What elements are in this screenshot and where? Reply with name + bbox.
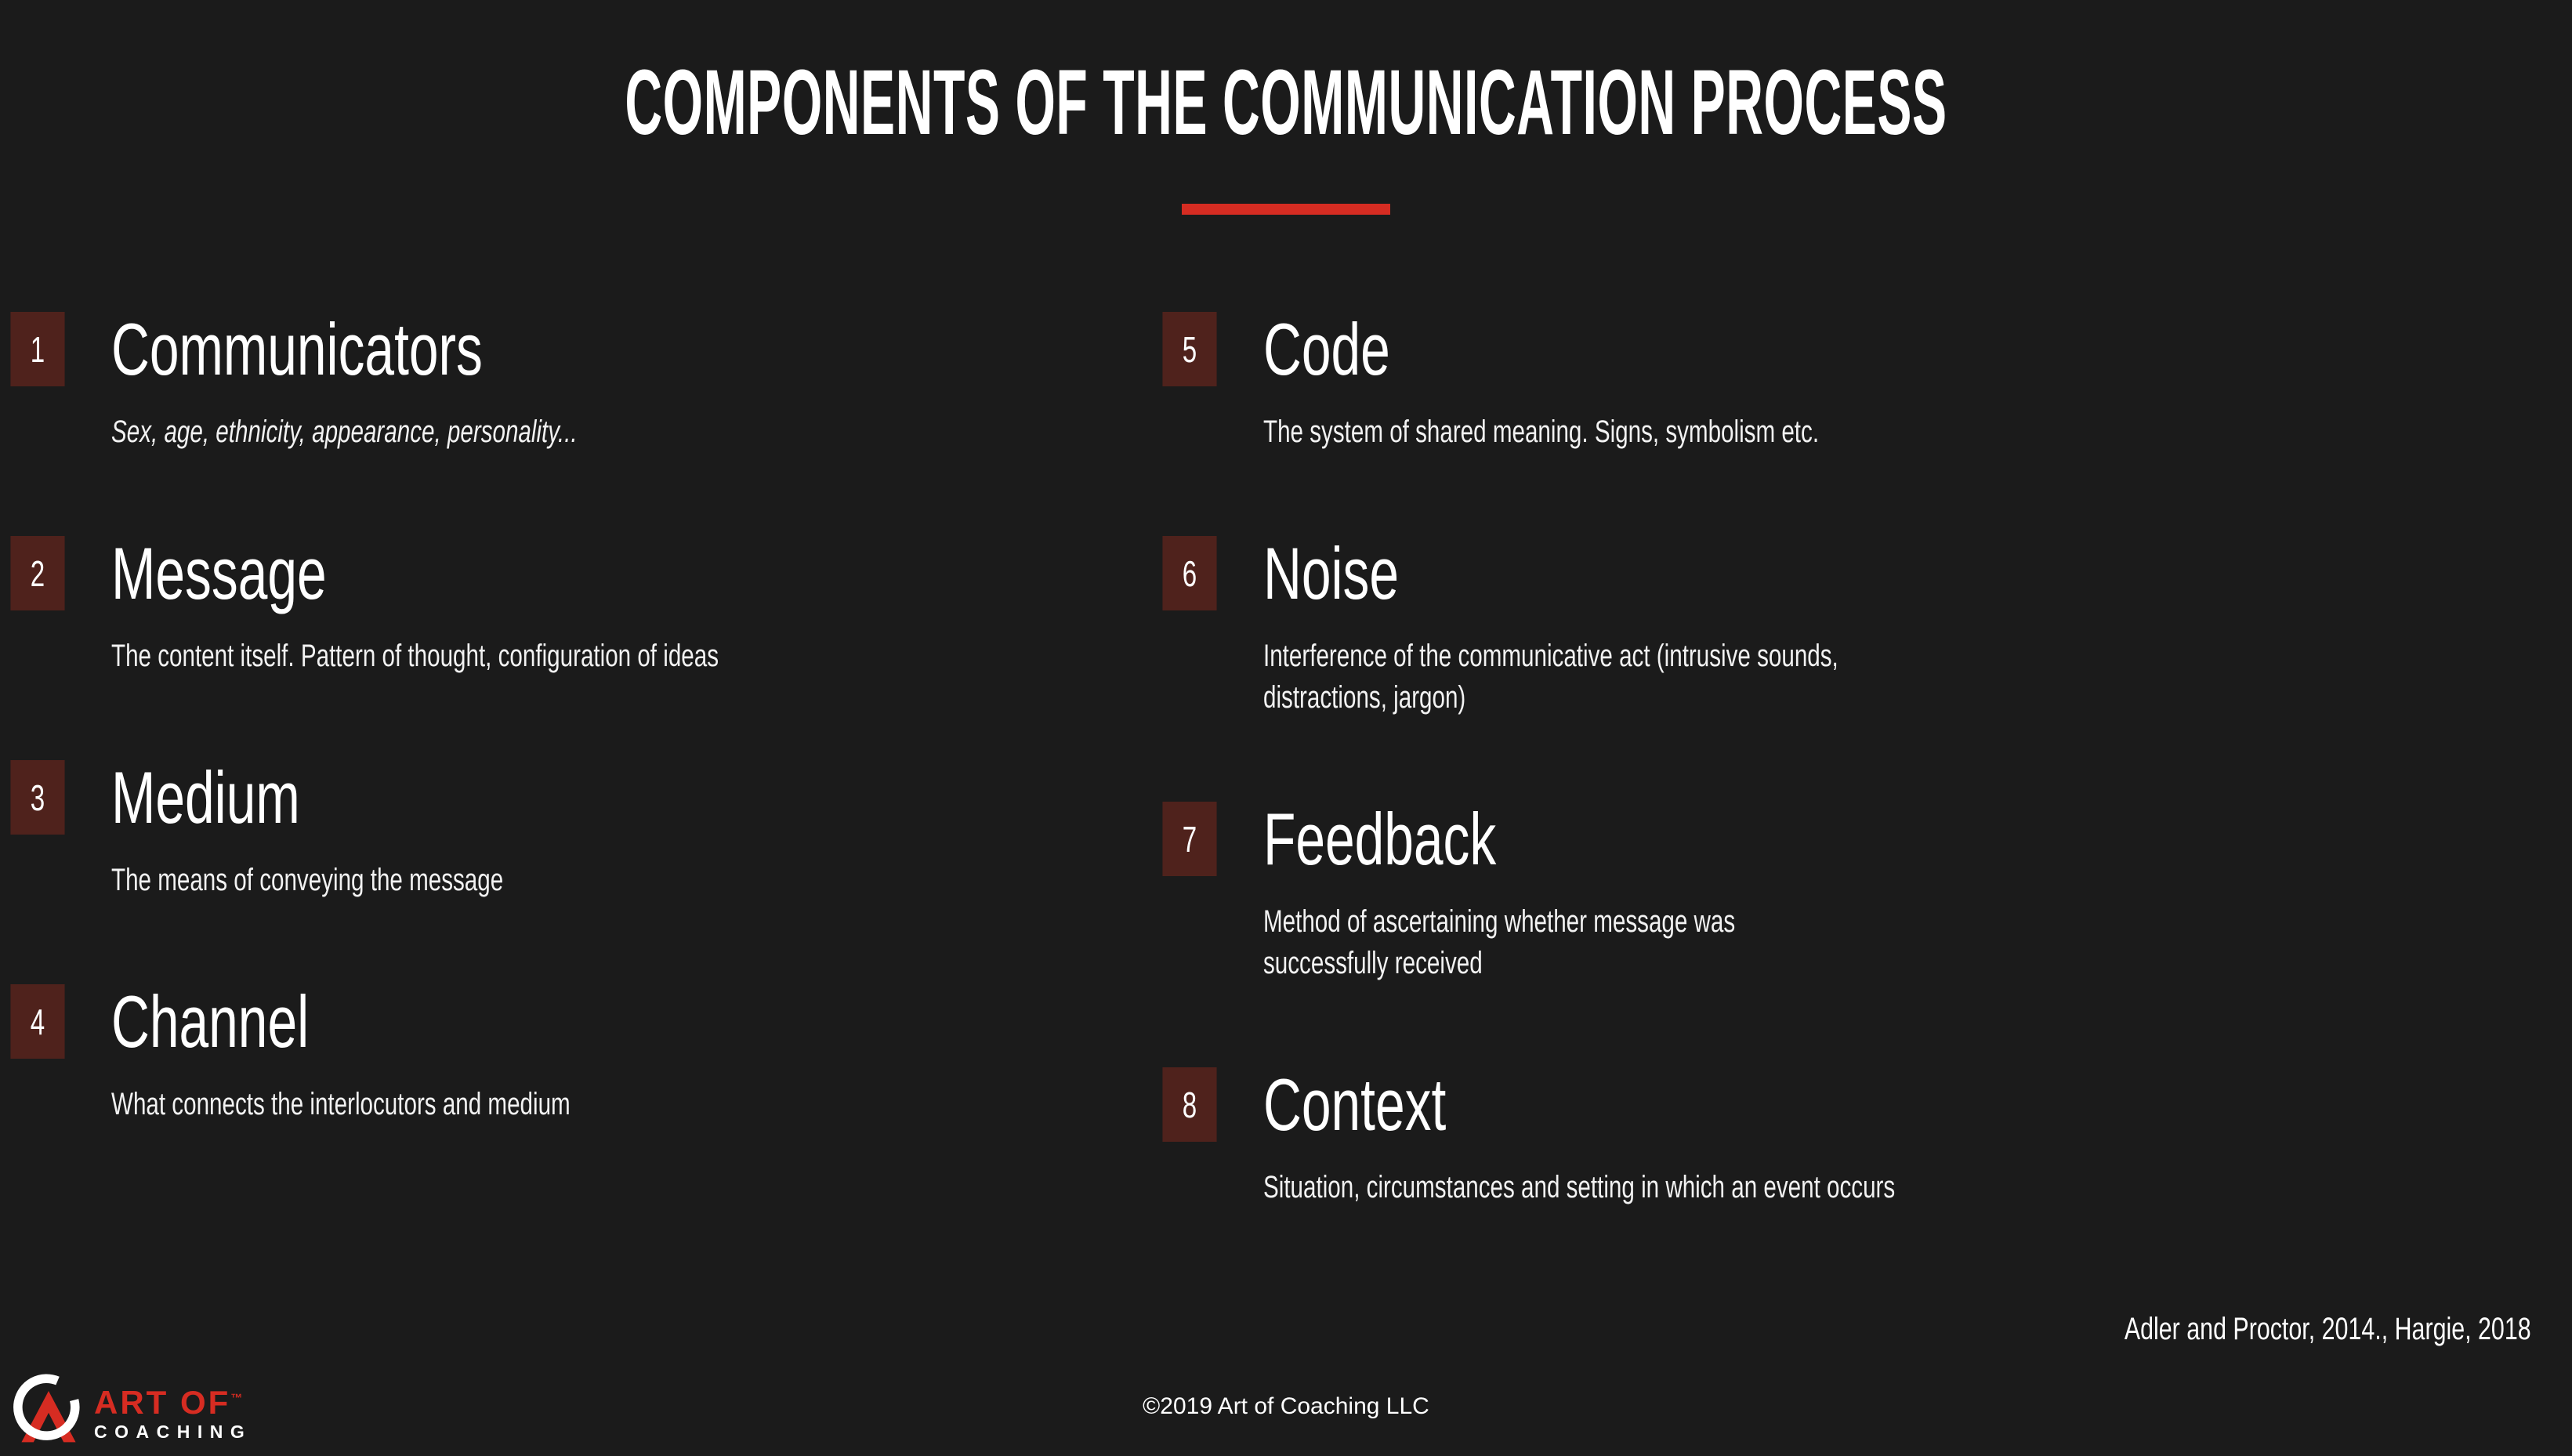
- content-columns: 1 Communicators Sex, age, ethnicity, app…: [0, 312, 2572, 1284]
- item-description: Sex, age, ethnicity, appearance, persona…: [111, 411, 981, 453]
- item-title: Channel: [111, 984, 309, 1059]
- list-item: 7 Feedback Method of ascertaining whethe…: [1152, 802, 2375, 984]
- item-number-badge: 2: [10, 536, 64, 610]
- logo-primary-text: ART OF: [94, 1384, 230, 1421]
- item-number-badge: 8: [1162, 1067, 1216, 1142]
- item-title: Communicators: [111, 312, 483, 386]
- brand-logo: ART OF™ COACHING: [11, 1370, 246, 1451]
- item-header: 5 Code: [1152, 312, 2375, 386]
- page-title: COMPONENTS OF THE COMMUNICATION PROCESS: [566, 0, 2006, 149]
- item-number-badge: 7: [1162, 802, 1216, 876]
- copyright-notice: ©2019 Art of Coaching LLC: [0, 1393, 2572, 1421]
- item-description: The content itself. Pattern of thought, …: [111, 636, 981, 677]
- item-header: 1 Communicators: [0, 312, 1152, 386]
- item-header: 2 Message: [0, 536, 1152, 610]
- item-description: Method of ascertaining whether message w…: [1263, 901, 1855, 984]
- art-of-coaching-monogram-icon: [11, 1373, 86, 1448]
- logo-wordmark: ART OF™ COACHING: [94, 1378, 252, 1443]
- item-header: 8 Context: [1152, 1067, 2375, 1142]
- list-item: 5 Code The system of shared meaning. Sig…: [1152, 312, 2375, 453]
- left-column: 1 Communicators Sex, age, ethnicity, app…: [0, 312, 1152, 1284]
- item-description: Interference of the communicative act (i…: [1263, 636, 1855, 719]
- list-item: 4 Channel What connects the interlocutor…: [0, 984, 1152, 1125]
- right-column: 5 Code The system of shared meaning. Sig…: [1152, 312, 2375, 1284]
- item-header: 4 Channel: [0, 984, 1152, 1059]
- list-item: 2 Message The content itself. Pattern of…: [0, 536, 1152, 677]
- item-title: Message: [111, 536, 327, 610]
- item-number-badge: 3: [10, 760, 64, 835]
- slide-root: { "slide": { "title": "COMPONENTS OF THE…: [0, 0, 2572, 1456]
- item-description: The means of conveying the message: [111, 860, 981, 901]
- item-description: What connects the interlocutors and medi…: [111, 1084, 981, 1125]
- list-item: 3 Medium The means of conveying the mess…: [0, 760, 1152, 901]
- item-number-badge: 4: [10, 984, 64, 1059]
- list-item: 8 Context Situation, circumstances and s…: [1152, 1067, 2375, 1208]
- item-header: 7 Feedback: [1152, 802, 2375, 876]
- slide-header: COMPONENTS OF THE COMMUNICATION PROCESS: [0, 0, 2572, 215]
- source-citation: Adler and Proctor, 2014., Hargie, 2018: [2125, 1310, 2531, 1348]
- list-item: 1 Communicators Sex, age, ethnicity, app…: [0, 312, 1152, 453]
- item-title: Noise: [1263, 536, 1399, 610]
- item-number-badge: 1: [10, 312, 64, 386]
- logo-secondary-word: COACHING: [94, 1420, 252, 1443]
- title-divider: [1182, 204, 1390, 215]
- item-number-badge: 5: [1162, 312, 1216, 386]
- item-header: 6 Noise: [1152, 536, 2375, 610]
- logo-primary-word: ART OF™: [94, 1384, 242, 1421]
- item-header: 3 Medium: [0, 760, 1152, 835]
- item-title: Context: [1263, 1067, 1446, 1142]
- list-item: 6 Noise Interference of the communicativ…: [1152, 536, 2375, 719]
- item-description: Situation, circumstances and setting in …: [1263, 1167, 2133, 1208]
- item-title: Feedback: [1263, 802, 1496, 876]
- trademark-icon: ™: [230, 1392, 242, 1405]
- item-description: The system of shared meaning. Signs, sym…: [1263, 411, 2133, 453]
- item-title: Code: [1263, 312, 1390, 386]
- item-title: Medium: [111, 760, 300, 835]
- item-number-badge: 6: [1162, 536, 1216, 610]
